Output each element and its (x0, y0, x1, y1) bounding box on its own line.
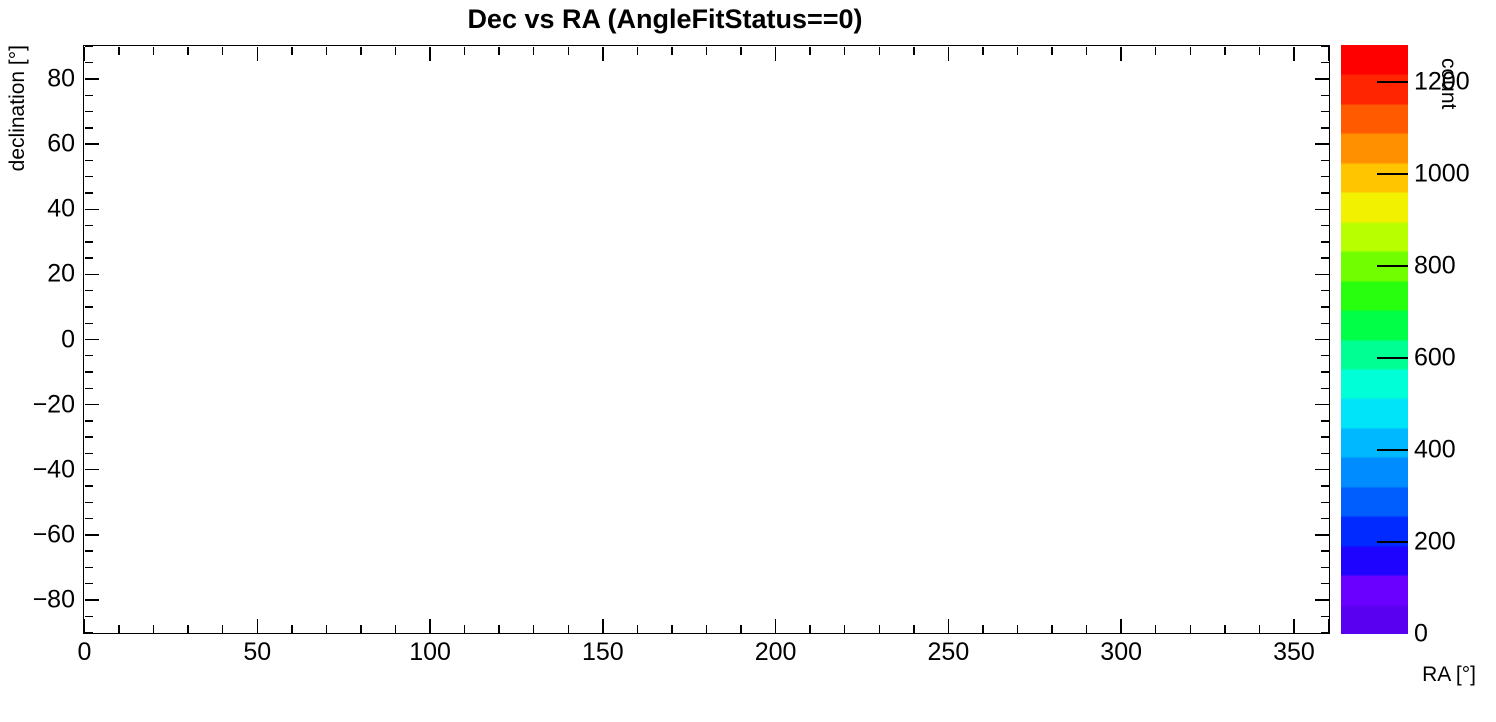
y-minor-tick (85, 192, 93, 193)
x-minor-tick-top (533, 47, 534, 55)
x-minor-tick (1155, 625, 1156, 633)
y-minor-tick (85, 323, 93, 324)
y-minor-tick (85, 567, 93, 568)
y-tick-label: 0 (0, 325, 75, 354)
y-major-tick-right (1315, 274, 1329, 275)
y-minor-tick-right (1321, 453, 1329, 454)
x-minor-tick-top (637, 47, 638, 55)
y-minor-tick (85, 436, 93, 437)
x-minor-tick (982, 625, 983, 633)
x-minor-tick-top (1190, 47, 1191, 55)
x-major-tick (602, 619, 603, 633)
y-minor-tick-right (1321, 616, 1329, 617)
y-minor-tick-right (1321, 583, 1329, 584)
y-major-tick (85, 534, 99, 535)
x-minor-tick-top (809, 47, 810, 55)
x-minor-tick (291, 625, 292, 633)
y-minor-tick (85, 306, 93, 307)
y-major-tick (85, 274, 99, 275)
x-minor-tick (1224, 625, 1225, 633)
x-minor-tick (740, 625, 741, 633)
y-tick-label: 40 (0, 195, 75, 224)
x-minor-tick-top (464, 47, 465, 55)
x-minor-tick-top (118, 47, 119, 55)
y-minor-tick-right (1321, 95, 1329, 96)
color-bar-tick (1377, 449, 1408, 451)
color-bar-tick (1377, 173, 1408, 175)
x-minor-tick (118, 625, 119, 633)
y-minor-tick-right (1321, 518, 1329, 519)
x-major-tick-top (775, 47, 776, 61)
y-minor-tick-right (1321, 420, 1329, 421)
x-minor-tick-top (568, 47, 569, 55)
x-major-tick (948, 619, 949, 633)
x-minor-tick (671, 625, 672, 633)
x-minor-tick (1017, 625, 1018, 633)
y-major-tick (85, 339, 99, 340)
y-minor-tick-right (1321, 371, 1329, 372)
x-minor-tick-top (1051, 47, 1052, 55)
x-minor-tick (706, 625, 707, 633)
y-minor-tick-right (1321, 290, 1329, 291)
y-minor-tick (85, 46, 93, 47)
y-minor-tick-right (1321, 550, 1329, 551)
x-major-tick (775, 619, 776, 633)
y-minor-tick (85, 518, 93, 519)
x-major-tick (257, 619, 258, 633)
y-minor-tick (85, 453, 93, 454)
y-minor-tick (85, 62, 93, 63)
x-major-tick (1293, 619, 1294, 633)
y-tick-label: 20 (0, 260, 75, 289)
y-minor-tick (85, 502, 93, 503)
x-major-tick-top (1293, 47, 1294, 61)
x-major-tick (1328, 619, 1329, 633)
y-minor-tick (85, 388, 93, 389)
y-minor-tick (85, 160, 93, 161)
x-minor-tick (326, 625, 327, 633)
y-major-tick-right (1315, 534, 1329, 535)
x-tick-label: 0 (78, 638, 92, 667)
x-major-tick-top (429, 47, 430, 61)
color-bar-tick (1377, 541, 1408, 543)
y-minor-tick-right (1321, 192, 1329, 193)
y-minor-tick-right (1321, 111, 1329, 112)
color-bar-tick-label: 400 (1414, 435, 1456, 464)
y-tick-label: −40 (0, 455, 75, 484)
color-bar-tick-label: 0 (1414, 620, 1428, 649)
x-minor-tick-top (326, 47, 327, 55)
x-major-tick-top (602, 47, 603, 61)
x-minor-tick-top (187, 47, 188, 55)
x-major-tick (1120, 619, 1121, 633)
x-minor-tick (1259, 625, 1260, 633)
x-minor-tick-top (291, 47, 292, 55)
x-minor-tick (464, 625, 465, 633)
x-major-tick-top (257, 47, 258, 61)
x-major-tick-top (1328, 47, 1329, 61)
y-minor-tick-right (1321, 502, 1329, 503)
y-minor-tick-right (1321, 46, 1329, 47)
x-minor-tick (153, 625, 154, 633)
x-minor-tick (913, 625, 914, 633)
x-minor-tick-top (706, 47, 707, 55)
y-minor-tick-right (1321, 160, 1329, 161)
y-minor-tick (85, 616, 93, 617)
x-minor-tick-top (153, 47, 154, 55)
x-minor-tick-top (913, 47, 914, 55)
y-minor-tick (85, 95, 93, 96)
y-minor-tick-right (1321, 388, 1329, 389)
x-minor-tick-top (1259, 47, 1260, 55)
x-minor-tick (1086, 625, 1087, 633)
y-minor-tick-right (1321, 323, 1329, 324)
y-minor-tick-right (1321, 62, 1329, 63)
y-minor-tick (85, 225, 93, 226)
y-major-tick (85, 599, 99, 600)
y-minor-tick (85, 257, 93, 258)
y-minor-tick-right (1321, 436, 1329, 437)
y-minor-tick-right (1321, 127, 1329, 128)
y-major-tick (85, 469, 99, 470)
color-bar-tick (1377, 357, 1408, 359)
x-minor-tick (637, 625, 638, 633)
y-major-tick (85, 78, 99, 79)
y-minor-tick-right (1321, 306, 1329, 307)
x-minor-tick (222, 625, 223, 633)
x-tick-label: 300 (1100, 638, 1142, 667)
y-minor-tick (85, 111, 93, 112)
x-minor-tick-top (1086, 47, 1087, 55)
x-tick-label: 150 (582, 638, 624, 667)
y-minor-tick (85, 485, 93, 486)
x-minor-tick-top (1017, 47, 1018, 55)
y-minor-tick-right (1321, 485, 1329, 486)
x-major-tick-top (84, 47, 85, 61)
x-minor-tick-top (879, 47, 880, 55)
x-major-tick-top (1120, 47, 1121, 61)
y-major-tick-right (1315, 599, 1329, 600)
x-minor-tick-top (671, 47, 672, 55)
color-bar-tick-label: 600 (1414, 343, 1456, 372)
x-minor-tick-top (1224, 47, 1225, 55)
x-minor-tick-top (498, 47, 499, 55)
color-bar-tick (1377, 265, 1408, 267)
y-major-tick (85, 404, 99, 405)
color-bar-tick-label: 1200 (1414, 67, 1470, 96)
color-bar-tick-label: 800 (1414, 251, 1456, 280)
y-minor-tick (85, 632, 93, 633)
x-minor-tick-top (395, 47, 396, 55)
x-minor-tick (809, 625, 810, 633)
color-bar-tick-label: 1000 (1414, 159, 1470, 188)
x-minor-tick-top (360, 47, 361, 55)
x-minor-tick (879, 625, 880, 633)
y-minor-tick-right (1321, 225, 1329, 226)
y-major-tick-right (1315, 209, 1329, 210)
x-minor-tick (1051, 625, 1052, 633)
y-tick-label: −80 (0, 585, 75, 614)
x-minor-tick (533, 625, 534, 633)
x-minor-tick-top (740, 47, 741, 55)
y-tick-label: 60 (0, 130, 75, 159)
x-minor-tick (395, 625, 396, 633)
x-minor-tick-top (844, 47, 845, 55)
plot-frame (83, 45, 1330, 634)
x-minor-tick-top (1155, 47, 1156, 55)
y-minor-tick-right (1321, 567, 1329, 568)
color-bar-tick-label: 200 (1414, 527, 1456, 556)
y-minor-tick (85, 176, 93, 177)
y-minor-tick (85, 550, 93, 551)
y-major-tick (85, 209, 99, 210)
x-major-tick (429, 619, 430, 633)
x-tick-label: 200 (755, 638, 797, 667)
y-tick-label: −60 (0, 520, 75, 549)
x-major-tick (84, 619, 85, 633)
x-minor-tick-top (982, 47, 983, 55)
x-tick-label: 50 (243, 638, 271, 667)
y-minor-tick-right (1321, 241, 1329, 242)
y-minor-tick-right (1321, 176, 1329, 177)
page-title: Dec vs RA (AngleFitStatus==0) (0, 4, 1330, 35)
x-minor-tick (844, 625, 845, 633)
x-minor-tick (187, 625, 188, 633)
color-bar[interactable] (1341, 45, 1408, 634)
y-major-tick-right (1315, 469, 1329, 470)
x-tick-label: 250 (928, 638, 970, 667)
color-bar-tick (1377, 81, 1408, 83)
x-axis-title: RA [°] (1422, 663, 1476, 687)
plot-canvas: Dec vs RA (AngleFitStatus==0) RA [°] dec… (0, 0, 1496, 722)
y-major-tick-right (1315, 78, 1329, 79)
y-minor-tick-right (1321, 257, 1329, 258)
x-minor-tick-top (222, 47, 223, 55)
y-minor-tick-right (1321, 632, 1329, 633)
y-minor-tick (85, 371, 93, 372)
color-bar-gradient (1341, 45, 1408, 634)
x-minor-tick (498, 625, 499, 633)
y-minor-tick (85, 290, 93, 291)
y-minor-tick (85, 127, 93, 128)
y-major-tick-right (1315, 404, 1329, 405)
y-major-tick-right (1315, 339, 1329, 340)
y-major-tick (85, 143, 99, 144)
x-major-tick-top (948, 47, 949, 61)
y-tick-label: 80 (0, 65, 75, 94)
y-minor-tick (85, 583, 93, 584)
y-minor-tick-right (1321, 355, 1329, 356)
x-minor-tick (360, 625, 361, 633)
x-tick-label: 350 (1273, 638, 1315, 667)
x-tick-label: 100 (409, 638, 451, 667)
y-minor-tick (85, 241, 93, 242)
y-minor-tick (85, 355, 93, 356)
y-major-tick-right (1315, 143, 1329, 144)
y-minor-tick (85, 420, 93, 421)
y-tick-label: −20 (0, 390, 75, 419)
x-minor-tick (568, 625, 569, 633)
x-minor-tick (1190, 625, 1191, 633)
